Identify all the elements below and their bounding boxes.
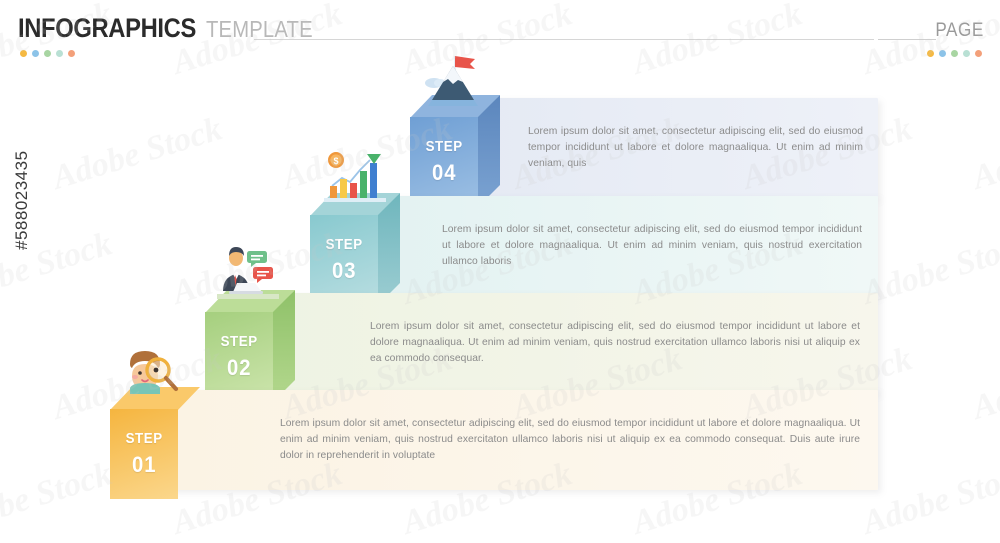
step-label-04: STEP 04 <box>410 117 478 207</box>
step-label-word: STEP <box>325 237 362 253</box>
step-label-word: STEP <box>425 139 462 155</box>
step-cube-03[interactable]: STEP 03 <box>310 193 400 305</box>
kid-magnifier-icon <box>120 342 190 398</box>
businessman-laptop-icon <box>215 245 285 301</box>
header-dot-right-1 <box>927 50 934 57</box>
header-dot-right-5 <box>975 50 982 57</box>
step-cube-02[interactable]: STEP 02 <box>205 290 295 402</box>
header-dot-right-3 <box>951 50 958 57</box>
step-label-number: 03 <box>332 258 356 284</box>
step-label-02: STEP 02 <box>205 312 273 402</box>
step-text-02: Lorem ipsum dolor sit amet, consectetur … <box>370 319 860 367</box>
svg-text:$: $ <box>333 156 338 166</box>
page-label: PAGE <box>936 20 984 42</box>
brand-title-main: INFOGRAPHICS <box>18 13 196 44</box>
step-cube-04[interactable]: STEP 04 <box>410 95 500 207</box>
dots-left <box>20 50 75 57</box>
header-dot-left-4 <box>56 50 63 57</box>
growth-chart-icon: $ <box>320 148 390 204</box>
step-panel-03: Lorem ipsum dolor sit amet, consectetur … <box>370 196 878 296</box>
header-rule-right <box>878 39 936 40</box>
step-label-number: 04 <box>432 160 456 186</box>
header-dot-left-3 <box>44 50 51 57</box>
step-label-word: STEP <box>125 431 162 447</box>
step-panel-01: Lorem ipsum dolor sit amet, consectetur … <box>170 390 878 490</box>
step-label-number: 01 <box>132 452 156 478</box>
steps-stage: Lorem ipsum dolor sit amet, consectetur … <box>0 62 1000 500</box>
step-panel-04: Lorem ipsum dolor sit amet, consectetur … <box>470 98 878 198</box>
header-dot-right-4 <box>963 50 970 57</box>
step-panel-02: Lorem ipsum dolor sit amet, consectetur … <box>265 293 878 393</box>
step-label-01: STEP 01 <box>110 409 178 499</box>
step-text-01: Lorem ipsum dolor sit amet, consectetur … <box>280 416 860 464</box>
step-label-word: STEP <box>220 334 257 350</box>
header-dot-left-1 <box>20 50 27 57</box>
step-label-03: STEP 03 <box>310 215 378 305</box>
step-label-number: 02 <box>227 355 251 381</box>
header-dot-left-2 <box>32 50 39 57</box>
header-dot-left-5 <box>68 50 75 57</box>
step-cube-01[interactable]: STEP 01 <box>110 387 200 499</box>
header-rule-left <box>254 39 874 40</box>
dots-right <box>927 50 982 57</box>
step-text-03: Lorem ipsum dolor sit amet, consectetur … <box>442 222 862 270</box>
step-text-04: Lorem ipsum dolor sit amet, consectetur … <box>528 124 863 172</box>
page-header: INFOGRAPHICSTEMPLATE PAGE <box>0 0 1000 62</box>
header-dot-right-2 <box>939 50 946 57</box>
mountain-flag-icon <box>420 50 490 106</box>
